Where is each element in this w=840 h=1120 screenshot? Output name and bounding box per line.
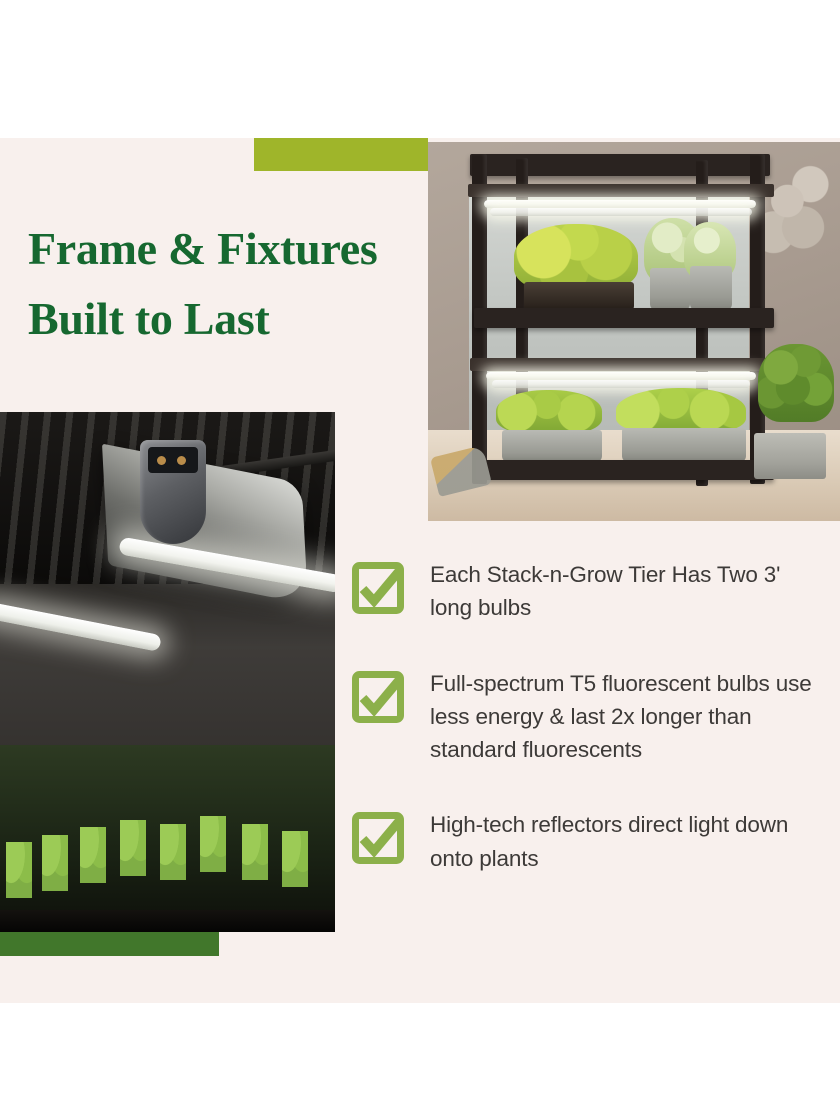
grow-shelf-photo [428,142,840,521]
infographic-page: Frame & Fixtures Built to Last [0,0,840,1120]
list-item-label: Full-spectrum T5 fluorescent bulbs use l… [430,667,822,767]
herb-pot-1 [650,268,690,310]
seedling-1 [6,842,32,898]
page-title-line-1: Frame & Fixtures [28,214,418,284]
list-item-label: Each Stack-n-Grow Tier Has Two 3' long b… [430,558,822,625]
middle-deck [474,308,774,328]
lower-bulb-2 [492,380,750,388]
check-square-icon [352,812,404,864]
socket-face [148,447,198,473]
socket-prong-left [157,456,166,465]
fixture-photo-wall [0,568,335,766]
lower-bulb-1 [486,372,756,380]
socket-prong-right [177,456,186,465]
seedling-7 [242,824,268,880]
seedling-tray-front [0,910,335,932]
upper-bulb-2 [490,208,752,216]
list-item-label: High-tech reflectors direct light down o… [430,808,822,875]
upper-reflector [468,184,774,197]
feature-checklist: Each Stack-n-Grow Tier Has Two 3' long b… [352,558,822,875]
seedling-tray-left [502,430,602,462]
seedling-tray-right [622,428,746,462]
list-item: High-tech reflectors direct light down o… [352,808,822,875]
fixture-socket-housing [140,440,206,544]
bottom-accent-bar [0,930,219,956]
light-fixture-photo [0,412,335,932]
seedling-3 [80,827,106,883]
list-item: Each Stack-n-Grow Tier Has Two 3' long b… [352,558,822,625]
check-square-icon [352,562,404,614]
seedling-flat-bed [0,745,335,932]
upper-bulb-1 [484,200,756,208]
check-square-icon [352,671,404,723]
seedling-8 [282,831,308,887]
seedling-4 [120,820,146,876]
shelf-top-deck [470,154,770,176]
decor-crate [754,433,826,479]
list-item: Full-spectrum T5 fluorescent bulbs use l… [352,667,822,767]
seedling-5 [160,824,186,880]
page-title: Frame & Fixtures Built to Last [28,214,418,354]
top-accent-bar [254,138,428,171]
bottom-deck [476,460,774,480]
seedling-group-left [496,390,602,434]
seedling-2 [42,835,68,891]
lower-reflector [470,358,776,371]
infographic-card: Frame & Fixtures Built to Last [0,138,840,1003]
seedling-6 [200,816,226,872]
decor-bush [758,344,834,422]
page-title-line-2: Built to Last [28,284,418,354]
herb-pot-2 [690,266,732,310]
